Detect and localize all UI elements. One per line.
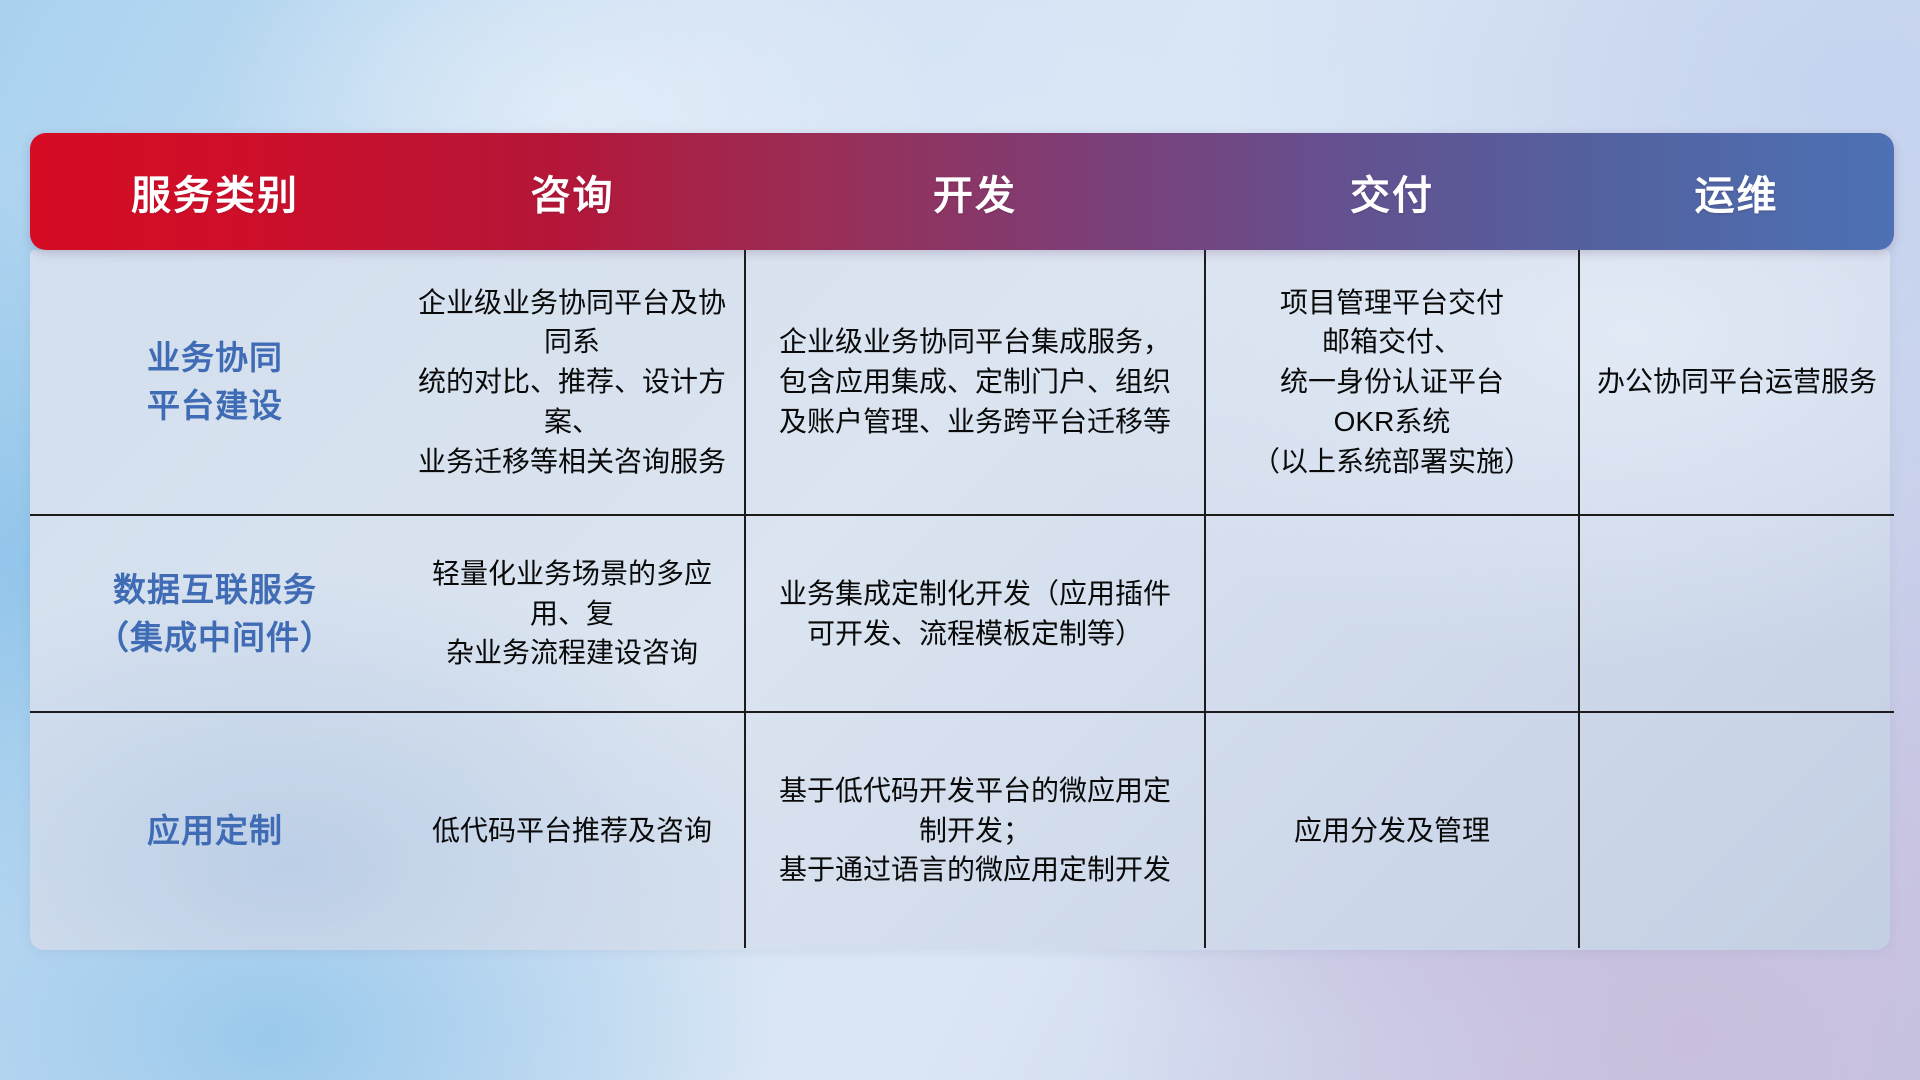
cell-delivery: 项目管理平台交付 邮箱交付、 统一身份认证平台 OKR系统 （以上系统部署实施） [1205,250,1579,515]
cell-delivery: 应用分发及管理 [1205,712,1579,948]
header-row: 服务类别 咨询 开发 交付 运维 [30,133,1894,250]
cell-development: 业务集成定制化开发（应用插件 可开发、流程模板定制等） [745,515,1205,712]
column-header-service-category: 服务类别 [30,133,400,250]
table-header: 服务类别 咨询 开发 交付 运维 [30,133,1894,250]
cell-operations: 办公协同平台运营服务 [1579,250,1894,515]
table-body: 业务协同 平台建设 企业级业务协同平台及协同系 统的对比、推荐、设计方案、 业务… [30,250,1894,948]
row-category-label: 业务协同 平台建设 [30,250,400,515]
table-row: 业务协同 平台建设 企业级业务协同平台及协同系 统的对比、推荐、设计方案、 业务… [30,250,1894,515]
service-matrix-table: 服务类别 咨询 开发 交付 运维 业务协同 平台建设 企业级业务协同平台及协同 [30,133,1894,948]
column-header-development-label: 开发 [933,174,1017,218]
column-header-consulting-label: 咨询 [531,174,615,218]
column-header-development: 开发 [745,133,1205,250]
service-matrix-table-container: 服务类别 咨询 开发 交付 运维 业务协同 平台建设 企业级业务协同平台及协同 [30,133,1894,951]
cell-development: 基于低代码开发平台的微应用定 制开发； 基于通过语言的微应用定制开发 [745,712,1205,948]
column-header-delivery: 交付 [1205,133,1579,250]
table-row: 应用定制 低代码平台推荐及咨询 基于低代码开发平台的微应用定 制开发； 基于通过… [30,712,1894,948]
row-category-label: 应用定制 [30,712,400,948]
column-header-operations-label: 运维 [1695,174,1779,218]
cell-development: 企业级业务协同平台集成服务， 包含应用集成、定制门户、组织 及账户管理、业务跨平… [745,250,1205,515]
table-row: 数据互联服务 （集成中间件） 轻量化业务场景的多应用、复 杂业务流程建设咨询 业… [30,515,1894,712]
cell-operations [1579,515,1894,712]
cell-consulting: 轻量化业务场景的多应用、复 杂业务流程建设咨询 [400,515,745,712]
column-header-service-category-label: 服务类别 [131,174,299,218]
cell-consulting: 低代码平台推荐及咨询 [400,712,745,948]
cell-consulting: 企业级业务协同平台及协同系 统的对比、推荐、设计方案、 业务迁移等相关咨询服务 [400,250,745,515]
cell-delivery [1205,515,1579,712]
column-header-operations: 运维 [1579,133,1894,250]
column-header-delivery-label: 交付 [1350,174,1434,218]
column-header-consulting: 咨询 [400,133,745,250]
cell-operations [1579,712,1894,948]
row-category-label: 数据互联服务 （集成中间件） [30,515,400,712]
